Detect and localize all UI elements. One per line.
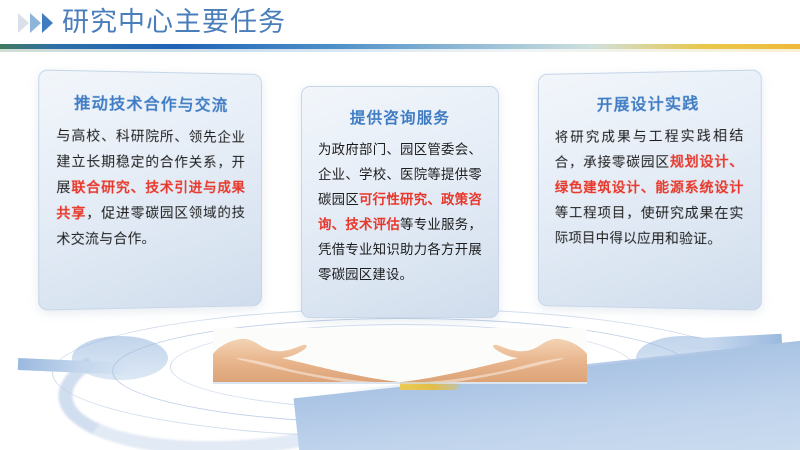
task-card-3[interactable]: 开展设计实践 将研究成果与工程实践相结合，承接零碳园区规划设计、绿色建筑设计、能… [538, 69, 762, 310]
slide-canvas: 研究中心主要任务 推动技术合作与交流 与高校、科研院所、领先企业建立长期稳定的合… [0, 0, 800, 450]
task-card-2[interactable]: 提供咨询服务 为政府部门、园区管委会、企业、学校、医院等提供零碳园区可行性研究、… [301, 86, 499, 318]
task-card-group: 推动技术合作与交流 与高校、科研院所、领先企业建立长期稳定的合作关系，开展联合研… [0, 56, 800, 326]
task-card-2-title: 提供咨询服务 [318, 109, 482, 129]
title-divider-shadow [0, 49, 800, 52]
body-text: 等工程项目，使研究成果在实际项目中得以应用和验证。 [555, 205, 744, 247]
task-card-1-title: 推动技术合作与交流 [56, 94, 245, 117]
page-title: 研究中心主要任务 [62, 4, 286, 40]
accent-band-right [662, 334, 782, 352]
slide-header: 研究中心主要任务 [0, 0, 800, 48]
accent-band-left [18, 358, 130, 375]
task-card-3-title: 开展设计实践 [555, 94, 744, 117]
podium-oval-left [72, 336, 168, 380]
podium-oval-right [636, 336, 732, 380]
task-card-3-body: 将研究成果与工程实践相结合，承接零碳园区规划设计、绿色建筑设计、能源系统设计等工… [555, 123, 744, 253]
chevron-right-icon-3 [42, 13, 53, 33]
task-card-1-body: 与高校、科研院所、领先企业建立长期稳定的合作关系，开展联合研究、技术引进与成果共… [56, 123, 245, 253]
chevron-right-icon-2 [30, 13, 41, 33]
hands-holding-sunburst-icon [205, 328, 595, 390]
chevron-right-icon-1 [18, 13, 29, 33]
task-card-1[interactable]: 推动技术合作与交流 与高校、科研院所、领先企业建立长期稳定的合作关系，开展联合研… [38, 69, 262, 310]
task-card-2-body: 为政府部门、园区管委会、企业、学校、医院等提供零碳园区可行性研究、政策咨询、技术… [318, 137, 482, 287]
chevron-right-triple-icon [18, 13, 53, 33]
